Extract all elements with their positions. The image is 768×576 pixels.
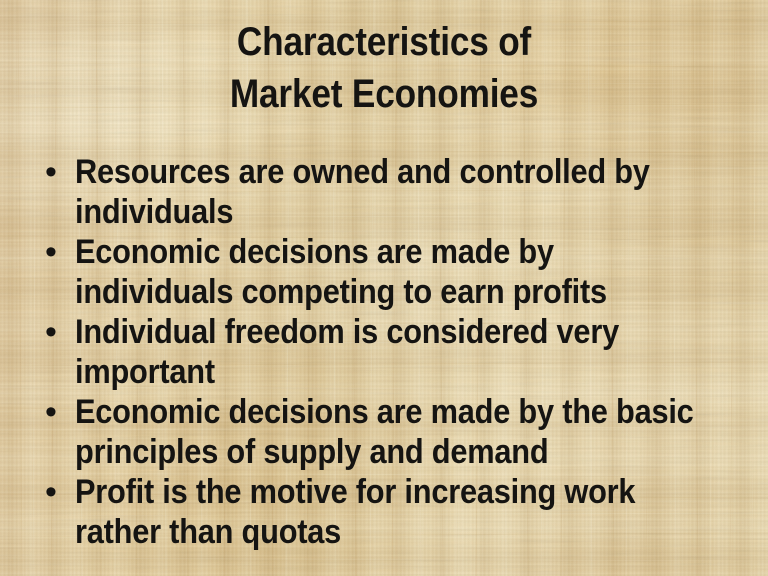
slide-title-line-2: Market Economies xyxy=(46,68,722,120)
bullet-dot-icon: • xyxy=(36,392,75,432)
slide-content: Characteristics of Market Economies • Re… xyxy=(0,0,768,576)
bullet-item-2: • Economic decisions are made by individ… xyxy=(36,232,762,312)
bullet-dot-icon: • xyxy=(36,312,75,352)
bullet-item-5: • Profit is the motive for increasing wo… xyxy=(36,472,762,552)
bullet-text-1: Resources are owned and controlled by in… xyxy=(75,152,697,232)
bullet-dot-icon: • xyxy=(36,232,75,272)
bullet-text-4: Economic decisions are made by the basic… xyxy=(75,392,697,472)
bullet-text-3: Individual freedom is considered very im… xyxy=(75,312,697,392)
bullet-item-4: • Economic decisions are made by the bas… xyxy=(36,392,762,472)
bullet-list: • Resources are owned and controlled by … xyxy=(36,152,762,552)
bullet-item-1: • Resources are owned and controlled by … xyxy=(36,152,762,232)
presentation-slide: Characteristics of Market Economies • Re… xyxy=(0,0,768,576)
bullet-text-5: Profit is the motive for increasing work… xyxy=(75,472,697,552)
slide-title-line-1: Characteristics of xyxy=(46,16,722,68)
bullet-item-3: • Individual freedom is considered very … xyxy=(36,312,762,392)
bullet-dot-icon: • xyxy=(36,472,75,512)
bullet-text-2: Economic decisions are made by individua… xyxy=(75,232,697,312)
slide-title: Characteristics of Market Economies xyxy=(0,16,768,120)
bullet-dot-icon: • xyxy=(36,152,75,192)
